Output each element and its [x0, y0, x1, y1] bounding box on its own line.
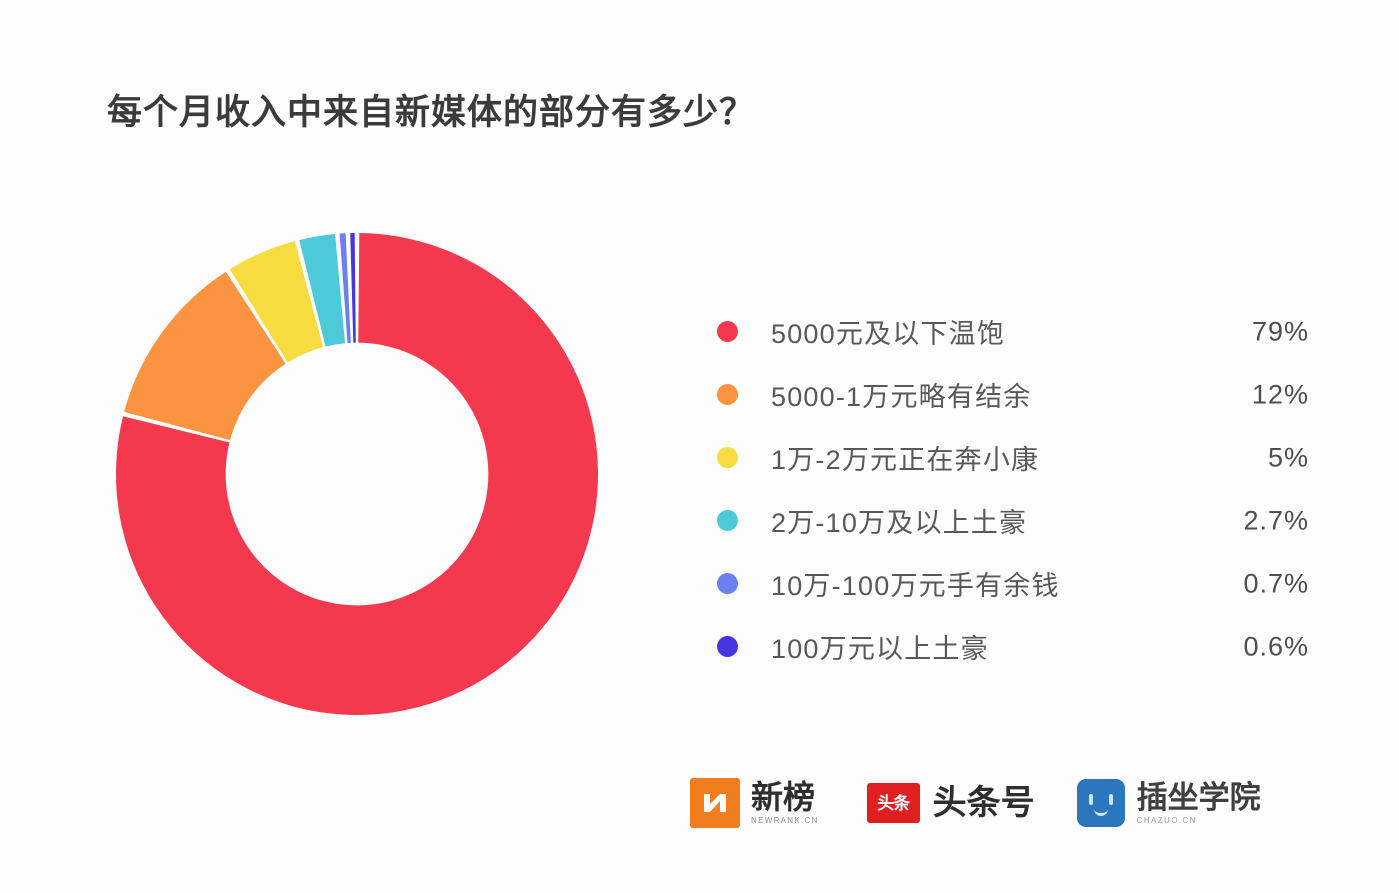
- newrank-name-en: NEWRANK.CN: [751, 815, 819, 826]
- chazuo-eye-right-icon: [1109, 794, 1113, 805]
- chazuo-eye-left-icon: [1089, 794, 1093, 805]
- newrank-text: 新榜 NEWRANK.CN: [751, 778, 819, 828]
- legend-item-label: 100万元以上土豪: [771, 627, 989, 666]
- legend-item-label: 1万-2万元正在奔小康: [771, 438, 1039, 477]
- legend-item-value: 5%: [1268, 442, 1309, 473]
- donut-slice-group: [116, 233, 598, 715]
- chart-legend: 5000元及以下温饱79%5000-1万元略有结余12%1万-2万元正在奔小康5…: [714, 300, 1309, 678]
- legend-item[interactable]: 5000-1万元略有结余12%: [714, 363, 1309, 426]
- legend-color-swatch-icon: [717, 636, 738, 657]
- legend-item[interactable]: 2万-10万及以上土豪2.7%: [714, 489, 1309, 552]
- legend-item-value: 12%: [1252, 379, 1309, 410]
- legend-item-label: 2万-10万及以上土豪: [771, 501, 1027, 540]
- legend-item-value: 79%: [1252, 316, 1309, 347]
- logo-toutiaohao: 头条 头条号: [867, 772, 1035, 834]
- legend-item[interactable]: 10万-100万元手有余钱0.7%: [714, 552, 1309, 615]
- donut-chart: [116, 233, 598, 715]
- legend-item[interactable]: 100万元以上土豪0.6%: [714, 615, 1309, 678]
- chazuo-mark-icon: [1077, 779, 1125, 827]
- legend-item-value: 2.7%: [1243, 505, 1309, 536]
- chazuo-text: 插坐学院 CHAZUO.CN: [1137, 778, 1261, 828]
- legend-item-label: 5000元及以下温饱: [771, 312, 1005, 351]
- logo-newrank: 新榜 NEWRANK.CN: [690, 772, 819, 834]
- slide-canvas: 每个月收入中来自新媒体的部分有多少？ 5000元及以下温饱79%5000-1万元…: [0, 0, 1399, 893]
- newrank-mark-icon: [690, 778, 740, 828]
- chazuo-name-cn: 插坐学院: [1137, 781, 1261, 814]
- legend-item-value: 0.7%: [1243, 568, 1309, 599]
- toutiaohao-name-cn: 头条号: [933, 785, 1035, 821]
- donut-slice[interactable]: [350, 233, 356, 343]
- legend-item[interactable]: 5000元及以下温饱79%: [714, 300, 1309, 363]
- legend-item-label: 5000-1万元略有结余: [771, 375, 1031, 414]
- donut-chart-svg: [116, 233, 598, 715]
- legend-item-label: 10万-100万元手有余钱: [771, 564, 1060, 603]
- logo-chazuo: 插坐学院 CHAZUO.CN: [1077, 772, 1261, 834]
- chazuo-mouth-icon: [1094, 807, 1108, 816]
- legend-color-swatch-icon: [717, 447, 738, 468]
- toutiao-mark-label: 头条: [877, 795, 909, 812]
- toutiao-mark-icon: 头条: [867, 783, 920, 823]
- legend-color-swatch-icon: [717, 510, 738, 531]
- newrank-name-cn: 新榜: [751, 780, 819, 814]
- page-title: 每个月收入中来自新媒体的部分有多少？: [107, 84, 755, 135]
- chazuo-name-en: CHAZUO.CN: [1137, 815, 1261, 826]
- legend-color-swatch-icon: [717, 573, 738, 594]
- legend-item-value: 0.6%: [1243, 631, 1309, 662]
- legend-color-swatch-icon: [717, 321, 738, 342]
- legend-color-swatch-icon: [717, 384, 738, 405]
- legend-item[interactable]: 1万-2万元正在奔小康5%: [714, 426, 1309, 489]
- footer-logo-bar: 新榜 NEWRANK.CN 头条 头条号 插坐学院 CHAZUO.CN: [690, 772, 1261, 834]
